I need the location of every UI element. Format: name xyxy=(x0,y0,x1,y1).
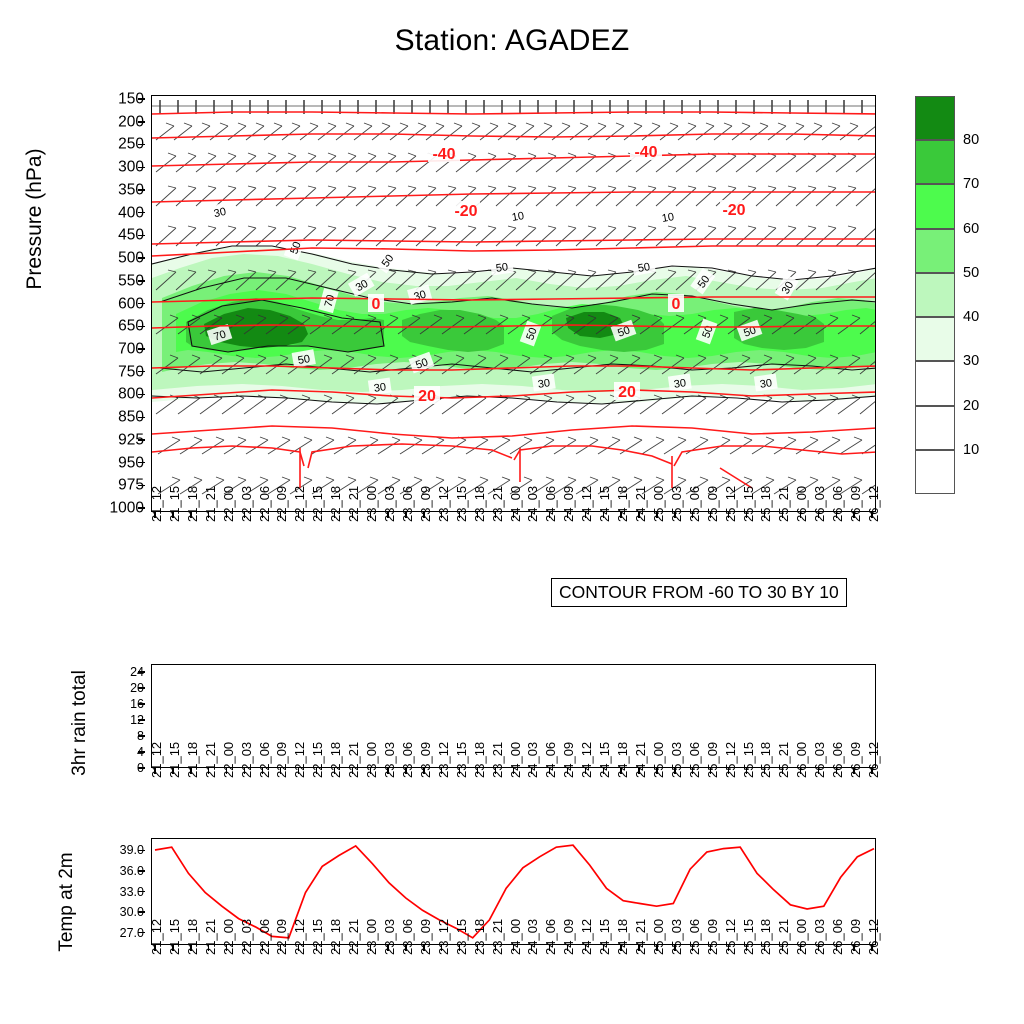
x-tick xyxy=(620,768,621,774)
x-tick xyxy=(746,768,747,774)
colorbar-cell xyxy=(915,229,955,273)
x-tick-label: 22_06 xyxy=(258,486,271,522)
x-tick xyxy=(782,945,783,951)
x-tick xyxy=(764,768,765,774)
x-tick xyxy=(334,945,335,951)
x-tick-label: 23_18 xyxy=(473,742,486,778)
x-tick-label: 23_00 xyxy=(365,486,378,522)
x-tick xyxy=(638,512,639,518)
x-tick xyxy=(513,768,514,774)
x-tick-label: 22_21 xyxy=(347,919,360,955)
x-tick xyxy=(316,945,317,951)
x-tick-label: 24_00 xyxy=(509,742,522,778)
x-tick xyxy=(656,945,657,951)
x-tick xyxy=(746,945,747,951)
svg-text:30: 30 xyxy=(759,377,773,391)
x-tick-label: 26_00 xyxy=(795,486,808,522)
x-tick xyxy=(549,768,550,774)
x-tick xyxy=(567,768,568,774)
x-tick xyxy=(531,945,532,951)
x-tick xyxy=(871,512,872,518)
svg-text:30: 30 xyxy=(373,381,387,395)
x-tick xyxy=(262,512,263,518)
x-tick xyxy=(172,512,173,518)
x-tick-label: 26_12 xyxy=(867,742,880,778)
pressure-axis-title: Pressure (hPa) xyxy=(23,79,47,359)
x-tick xyxy=(190,768,191,774)
rain-tick xyxy=(138,767,145,768)
pressure-tick xyxy=(138,417,145,418)
x-tick xyxy=(603,768,604,774)
x-tick xyxy=(818,768,819,774)
x-tick-label: 22_06 xyxy=(258,742,271,778)
x-tick-label: 26_03 xyxy=(813,919,826,955)
x-tick-label: 23_15 xyxy=(455,919,468,955)
x-tick xyxy=(603,945,604,951)
x-tick xyxy=(620,945,621,951)
x-tick xyxy=(638,768,639,774)
pressure-tick xyxy=(138,212,145,213)
temp-axis-title: Temp at 2m xyxy=(56,797,78,1007)
colorbar-tick-label: 30 xyxy=(963,353,979,369)
x-tick xyxy=(387,945,388,951)
rain-tick xyxy=(138,703,145,704)
colorbar-cell xyxy=(915,140,955,184)
rain-tick xyxy=(138,719,145,720)
x-tick xyxy=(531,768,532,774)
x-tick-label: 24_06 xyxy=(544,742,557,778)
pressure-tick xyxy=(138,167,145,168)
x-tick xyxy=(298,768,299,774)
x-tick xyxy=(352,768,353,774)
x-tick-label: 22_12 xyxy=(293,919,306,955)
x-tick xyxy=(656,512,657,518)
x-tick-label: 24_06 xyxy=(544,919,557,955)
x-tick xyxy=(674,945,675,951)
x-tick xyxy=(208,512,209,518)
svg-text:0: 0 xyxy=(672,296,681,313)
x-tick xyxy=(818,512,819,518)
x-tick xyxy=(441,768,442,774)
x-tick xyxy=(728,512,729,518)
x-tick-label: 21_12 xyxy=(150,919,163,955)
x-tick-label: 21_21 xyxy=(204,742,217,778)
x-tick-label: 23_06 xyxy=(401,742,414,778)
x-tick-label: 24_15 xyxy=(598,486,611,522)
x-tick-label: 25_00 xyxy=(652,919,665,955)
pressure-tick xyxy=(138,462,145,463)
x-tick xyxy=(710,512,711,518)
cross-section-plot: 70 70 30 50 30 50 30 50 10 50 10 50 50 5… xyxy=(151,95,876,512)
x-tick-label: 22_21 xyxy=(347,742,360,778)
x-tick xyxy=(728,945,729,951)
x-tick xyxy=(674,512,675,518)
x-tick xyxy=(441,945,442,951)
x-tick xyxy=(710,768,711,774)
x-tick xyxy=(782,768,783,774)
x-tick-label: 21_18 xyxy=(186,486,199,522)
x-tick-label: 22_00 xyxy=(222,919,235,955)
rain-tick xyxy=(138,735,145,736)
x-tick-label: 25_09 xyxy=(706,486,719,522)
x-tick-label: 25_06 xyxy=(688,919,701,955)
x-tick-label: 26_09 xyxy=(849,919,862,955)
x-tick-label: 25_12 xyxy=(724,742,737,778)
x-tick-label: 24_00 xyxy=(509,486,522,522)
x-tick xyxy=(836,768,837,774)
pressure-tick xyxy=(138,121,145,122)
x-tick-label: 22_21 xyxy=(347,486,360,522)
x-tick-label: 24_12 xyxy=(580,919,593,955)
x-tick-label: 22_09 xyxy=(275,486,288,522)
svg-text:50: 50 xyxy=(297,353,311,367)
colorbar-tick-label: 10 xyxy=(963,442,979,458)
x-tick xyxy=(603,512,604,518)
x-tick xyxy=(836,945,837,951)
x-tick xyxy=(298,512,299,518)
x-tick-label: 25_21 xyxy=(777,486,790,522)
x-tick-label: 25_03 xyxy=(670,486,683,522)
x-tick-label: 24_15 xyxy=(598,919,611,955)
x-tick xyxy=(208,768,209,774)
x-tick-label: 26_06 xyxy=(831,919,844,955)
x-tick-label: 22_03 xyxy=(240,919,253,955)
x-tick xyxy=(244,512,245,518)
x-tick xyxy=(764,945,765,951)
pressure-tick xyxy=(138,507,145,508)
x-tick-label: 25_15 xyxy=(742,486,755,522)
x-tick xyxy=(226,768,227,774)
x-tick xyxy=(871,945,872,951)
svg-text:30: 30 xyxy=(213,206,227,220)
x-tick-label: 25_15 xyxy=(742,742,755,778)
x-tick-label: 24_00 xyxy=(509,919,522,955)
x-tick xyxy=(853,512,854,518)
x-tick xyxy=(495,768,496,774)
x-tick-label: 26_12 xyxy=(867,919,880,955)
x-tick xyxy=(656,768,657,774)
contour-note: CONTOUR FROM -60 TO 30 BY 10 xyxy=(551,578,847,607)
x-tick xyxy=(370,945,371,951)
pressure-tick xyxy=(138,485,145,486)
x-tick-label: 25_18 xyxy=(759,486,772,522)
x-tick-label: 23_09 xyxy=(419,486,432,522)
x-tick xyxy=(298,945,299,951)
temp-axis: 27.030.033.036.039.0 xyxy=(96,838,144,945)
rain-tick xyxy=(138,751,145,752)
x-tick-label: 21_12 xyxy=(150,742,163,778)
x-tick xyxy=(459,945,460,951)
x-tick xyxy=(423,768,424,774)
x-tick-label: 23_09 xyxy=(419,742,432,778)
x-tick-label: 21_21 xyxy=(204,486,217,522)
temp-tick xyxy=(138,911,145,912)
x-tick-label: 23_18 xyxy=(473,486,486,522)
x-tick-label: 26_03 xyxy=(813,486,826,522)
svg-text:30: 30 xyxy=(673,377,687,391)
x-tick xyxy=(280,512,281,518)
x-tick-label: 24_09 xyxy=(562,742,575,778)
x-tick-label: 25_06 xyxy=(688,742,701,778)
pressure-tick xyxy=(138,394,145,395)
x-tick xyxy=(244,945,245,951)
x-tick xyxy=(154,945,155,951)
x-tick xyxy=(459,512,460,518)
x-tick-label: 23_12 xyxy=(437,919,450,955)
pressure-tick xyxy=(138,280,145,281)
x-tick-label: 23_21 xyxy=(491,486,504,522)
x-tick-label: 21_12 xyxy=(150,486,163,522)
x-tick-label: 22_12 xyxy=(293,486,306,522)
x-tick xyxy=(352,945,353,951)
svg-text:10: 10 xyxy=(661,211,675,225)
colorbar-tick-label: 60 xyxy=(963,221,979,237)
x-tick xyxy=(405,945,406,951)
x-tick-label: 24_21 xyxy=(634,919,647,955)
x-tick xyxy=(280,945,281,951)
x-tick-label: 24_12 xyxy=(580,742,593,778)
x-tick-label: 22_06 xyxy=(258,919,271,955)
pressure-tick xyxy=(138,235,145,236)
x-tick xyxy=(226,512,227,518)
x-tick-label: 22_18 xyxy=(329,742,342,778)
x-tick-label: 25_09 xyxy=(706,742,719,778)
x-tick xyxy=(441,512,442,518)
x-tick-label: 23_03 xyxy=(383,742,396,778)
x-tick xyxy=(352,512,353,518)
x-tick xyxy=(800,512,801,518)
pressure-tick xyxy=(138,144,145,145)
x-tick-label: 26_09 xyxy=(849,742,862,778)
x-tick xyxy=(154,512,155,518)
rain-axis: 04812162024 xyxy=(104,664,144,768)
colorbar-tick-label: 20 xyxy=(963,398,979,414)
x-tick-label: 25_12 xyxy=(724,486,737,522)
x-tick xyxy=(316,512,317,518)
x-tick-label: 25_06 xyxy=(688,486,701,522)
x-tick xyxy=(226,945,227,951)
colorbar-cell xyxy=(915,184,955,228)
x-tick xyxy=(585,768,586,774)
x-tick-label: 26_00 xyxy=(795,919,808,955)
x-tick-label: 21_18 xyxy=(186,919,199,955)
temp-tick xyxy=(138,932,145,933)
temp-tick xyxy=(138,850,145,851)
svg-text:-20: -20 xyxy=(722,202,745,219)
x-tick-label: 25_09 xyxy=(706,919,719,955)
colorbar-cell xyxy=(915,317,955,361)
x-tick xyxy=(513,512,514,518)
x-tick xyxy=(638,945,639,951)
x-tick-label: 25_21 xyxy=(777,919,790,955)
x-tick xyxy=(871,768,872,774)
svg-text:50: 50 xyxy=(495,261,509,275)
x-tick xyxy=(549,945,550,951)
cross-section-canvas: 70 70 30 50 30 50 30 50 10 50 10 50 50 5… xyxy=(152,96,876,512)
colorbar: 8070605040302010 xyxy=(915,96,955,494)
x-tick-label: 22_18 xyxy=(329,486,342,522)
x-tick-label: 23_21 xyxy=(491,742,504,778)
x-tick xyxy=(262,945,263,951)
x-tick xyxy=(836,512,837,518)
rain-tick xyxy=(138,671,145,672)
x-tick-label: 22_09 xyxy=(275,742,288,778)
x-tick-label: 25_21 xyxy=(777,742,790,778)
x-tick-label: 24_12 xyxy=(580,486,593,522)
x-tick-label: 25_18 xyxy=(759,742,772,778)
pressure-tick xyxy=(138,371,145,372)
pressure-tick xyxy=(138,439,145,440)
rain-x-axis-ticks: 21_1221_1521_1821_2122_0022_0322_0622_09… xyxy=(151,774,876,834)
colorbar-tick-label: 70 xyxy=(963,176,979,192)
rain-tick xyxy=(138,687,145,688)
x-tick-label: 23_12 xyxy=(437,486,450,522)
x-tick xyxy=(316,768,317,774)
pressure-tick xyxy=(138,348,145,349)
temp-tick xyxy=(138,891,145,892)
temperature-x-axis-ticks: 21_1221_1521_1821_2122_0022_0322_0622_09… xyxy=(151,951,876,1011)
x-tick-label: 22_15 xyxy=(311,742,324,778)
x-tick xyxy=(208,945,209,951)
x-tick xyxy=(674,768,675,774)
x-tick-label: 25_03 xyxy=(670,919,683,955)
x-tick xyxy=(692,945,693,951)
x-tick xyxy=(764,512,765,518)
x-tick-label: 21_18 xyxy=(186,742,199,778)
svg-text:30: 30 xyxy=(537,377,551,391)
page-title: Station: AGADEZ xyxy=(0,24,1024,58)
x-tick-label: 24_18 xyxy=(616,742,629,778)
svg-text:0: 0 xyxy=(372,296,381,313)
colorbar-tick-label: 80 xyxy=(963,132,979,148)
x-tick xyxy=(585,512,586,518)
x-tick-label: 24_18 xyxy=(616,919,629,955)
colorbar-cell xyxy=(915,406,955,450)
x-tick-label: 23_06 xyxy=(401,486,414,522)
x-tick xyxy=(334,512,335,518)
svg-text:20: 20 xyxy=(618,384,636,401)
colorbar-cell xyxy=(915,450,955,494)
x-tick xyxy=(334,768,335,774)
main-x-axis-ticks: 21_1221_1521_1821_2122_0022_0322_0622_09… xyxy=(151,518,876,578)
x-tick xyxy=(495,512,496,518)
x-tick xyxy=(853,945,854,951)
x-tick-label: 24_21 xyxy=(634,486,647,522)
x-tick xyxy=(728,768,729,774)
x-tick xyxy=(370,768,371,774)
x-tick-label: 24_09 xyxy=(562,486,575,522)
x-tick xyxy=(853,768,854,774)
x-tick-label: 22_18 xyxy=(329,919,342,955)
x-tick-label: 24_03 xyxy=(526,742,539,778)
x-tick-label: 22_00 xyxy=(222,742,235,778)
x-tick-label: 23_03 xyxy=(383,919,396,955)
x-tick xyxy=(244,768,245,774)
x-tick-label: 25_18 xyxy=(759,919,772,955)
x-tick xyxy=(262,768,263,774)
x-tick xyxy=(692,512,693,518)
colorbar-cell xyxy=(915,361,955,405)
x-tick xyxy=(567,945,568,951)
x-tick xyxy=(370,512,371,518)
x-tick xyxy=(423,945,424,951)
x-tick xyxy=(387,768,388,774)
x-tick-label: 22_15 xyxy=(311,919,324,955)
x-tick xyxy=(280,768,281,774)
pressure-tick xyxy=(138,189,145,190)
x-tick-label: 22_12 xyxy=(293,742,306,778)
svg-text:50: 50 xyxy=(637,261,651,275)
x-tick-label: 22_09 xyxy=(275,919,288,955)
x-tick-label: 23_00 xyxy=(365,742,378,778)
colorbar-cell xyxy=(915,96,955,140)
x-tick xyxy=(585,945,586,951)
x-tick-label: 26_03 xyxy=(813,742,826,778)
x-tick xyxy=(800,768,801,774)
x-tick-label: 24_18 xyxy=(616,486,629,522)
x-tick-label: 26_06 xyxy=(831,742,844,778)
x-tick xyxy=(567,512,568,518)
x-tick xyxy=(513,945,514,951)
x-tick xyxy=(172,768,173,774)
x-tick-label: 22_03 xyxy=(240,742,253,778)
x-tick xyxy=(531,512,532,518)
x-tick xyxy=(692,768,693,774)
svg-text:10: 10 xyxy=(511,210,525,224)
colorbar-tick-label: 50 xyxy=(963,265,979,281)
svg-text:20: 20 xyxy=(418,388,436,405)
x-tick xyxy=(620,512,621,518)
temp-tick xyxy=(138,870,145,871)
svg-text:-40: -40 xyxy=(634,144,657,161)
x-tick xyxy=(800,945,801,951)
x-tick xyxy=(477,512,478,518)
x-tick xyxy=(477,768,478,774)
x-tick xyxy=(549,512,550,518)
x-tick-label: 25_00 xyxy=(652,486,665,522)
x-tick-label: 23_03 xyxy=(383,486,396,522)
x-tick-label: 26_09 xyxy=(849,486,862,522)
x-tick-label: 23_18 xyxy=(473,919,486,955)
x-tick-label: 23_09 xyxy=(419,919,432,955)
x-tick xyxy=(405,768,406,774)
colorbar-cell xyxy=(915,273,955,317)
x-tick xyxy=(782,512,783,518)
svg-text:-40: -40 xyxy=(432,146,455,163)
pressure-tick xyxy=(138,303,145,304)
pressure-tick xyxy=(138,257,145,258)
x-tick xyxy=(190,945,191,951)
pressure-axis: 1502002503003504004505005506006507007508… xyxy=(76,95,144,512)
x-tick xyxy=(818,945,819,951)
x-tick xyxy=(387,512,388,518)
x-tick xyxy=(423,512,424,518)
x-tick-label: 21_15 xyxy=(168,486,181,522)
x-tick-label: 24_21 xyxy=(634,742,647,778)
x-tick-label: 21_15 xyxy=(168,742,181,778)
x-tick xyxy=(746,512,747,518)
x-tick-label: 22_15 xyxy=(311,486,324,522)
x-tick xyxy=(154,768,155,774)
x-tick-label: 23_12 xyxy=(437,742,450,778)
x-tick-label: 24_03 xyxy=(526,486,539,522)
x-tick-label: 25_00 xyxy=(652,742,665,778)
x-tick xyxy=(190,512,191,518)
x-tick xyxy=(405,512,406,518)
x-tick xyxy=(477,945,478,951)
x-tick-label: 24_03 xyxy=(526,919,539,955)
x-tick xyxy=(495,945,496,951)
